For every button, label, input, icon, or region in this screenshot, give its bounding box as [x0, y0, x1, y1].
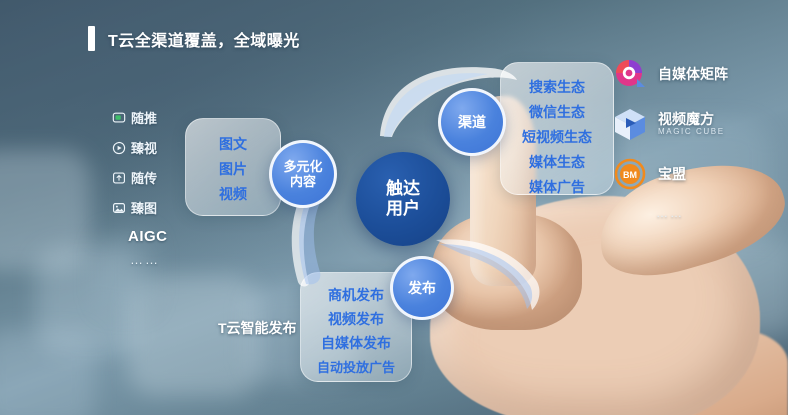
image-icon	[112, 201, 126, 215]
bokeh-shape	[0, 150, 90, 270]
brand-name: 视频魔方 MAGIC CUBE	[658, 111, 725, 136]
channel-bubble[interactable]: 渠道	[438, 88, 506, 156]
brand-name-text: 自媒体矩阵	[658, 66, 728, 82]
page-title: T云全渠道覆盖，全域曝光	[88, 26, 300, 51]
bokeh-shape	[700, 238, 788, 334]
cube-logo	[612, 106, 648, 142]
content-bubble-line2: 内容	[290, 174, 316, 189]
publish-section-label: T云智能发布	[218, 318, 297, 338]
publish-bubble[interactable]: 发布	[390, 256, 454, 320]
center-line1: 触达	[386, 179, 420, 199]
center-line2: 用户	[386, 199, 420, 219]
channel-item[interactable]: 短视频生态	[501, 127, 613, 147]
channel-item[interactable]: 微信生态	[501, 102, 613, 122]
sidebar-more-ellipsis: ……	[130, 252, 192, 267]
sidebar-item-label: 臻视	[131, 138, 157, 157]
play-circle-icon	[112, 141, 126, 155]
brand-list: 自媒体矩阵 视频魔方 MAGIC CUBE	[612, 56, 777, 220]
hand-wrist	[560, 330, 788, 415]
brand-subtitle: MAGIC CUBE	[658, 127, 725, 136]
sidebar-item-zhentu[interactable]: 臻图	[112, 198, 192, 217]
upload-box-icon	[112, 171, 126, 185]
sidebar-item-aigc[interactable]: AIGC	[128, 228, 192, 245]
bm-circle-logo: BM	[612, 156, 648, 192]
bokeh-shape	[0, 330, 94, 415]
brand-item-baomeng[interactable]: BM 宝盟	[612, 156, 777, 192]
source-channel-list: 随推 臻视 随传 臻图 AIGC ……	[112, 108, 192, 267]
publish-item[interactable]: 自媒体发布	[301, 333, 411, 353]
sidebar-item-zhenshi[interactable]: 臻视	[112, 138, 192, 157]
sidebar-item-label: 臻图	[131, 198, 157, 217]
channel-item[interactable]: 媒体生态	[501, 152, 613, 172]
sidebar-item-suitui[interactable]: 随推	[112, 108, 192, 127]
bokeh-shape	[536, 322, 656, 415]
content-item[interactable]: 图片	[186, 159, 280, 179]
bokeh-shape	[604, 268, 716, 372]
content-bubble[interactable]: 多元化 内容	[269, 140, 337, 208]
channel-list-panel: 搜索生态 微信生态 短视频生态 媒体生态 媒体广告	[500, 62, 614, 195]
brand-item-shipin-mofang[interactable]: 视频魔方 MAGIC CUBE	[612, 106, 777, 142]
center-hub[interactable]: 触达 用户	[356, 152, 450, 246]
brand-item-zimeiti-juzhen[interactable]: 自媒体矩阵	[612, 56, 777, 92]
brand-name-text: 宝盟	[658, 166, 686, 182]
brands-more-ellipsis: ……	[656, 206, 777, 220]
infographic-canvas: 随推 臻视 随传 臻图 AIGC ……	[0, 0, 788, 415]
title-accent-bar	[88, 26, 95, 51]
channel-item[interactable]: 搜索生态	[501, 77, 613, 97]
title-text: T云全渠道覆盖，全域曝光	[108, 27, 300, 51]
publish-bubble-label: 发布	[408, 280, 436, 297]
brand-name-text: 视频魔方	[658, 111, 714, 127]
hand-palm	[430, 196, 760, 415]
svg-text:BM: BM	[623, 170, 637, 180]
sidebar-item-label: 随推	[131, 108, 157, 127]
channel-bubble-label: 渠道	[458, 114, 486, 131]
content-bubble-line1: 多元化	[283, 159, 322, 174]
sidebar-item-label: 随传	[131, 168, 157, 187]
content-types-panel: 图文 图片 视频	[185, 118, 281, 216]
chat-bubble-icon	[112, 111, 126, 125]
channel-item[interactable]: 媒体广告	[501, 177, 613, 197]
publish-item[interactable]: 视频发布	[301, 309, 411, 329]
sidebar-item-suichuan[interactable]: 随传	[112, 168, 192, 187]
brand-name: 宝盟	[658, 166, 686, 182]
publish-item[interactable]: 自动投放广告	[301, 357, 411, 376]
matrix-circle-logo	[612, 56, 648, 92]
hand-knuckles	[432, 214, 582, 330]
content-item[interactable]: 图文	[186, 134, 280, 154]
content-item[interactable]: 视频	[186, 184, 280, 204]
brand-name: 自媒体矩阵	[658, 66, 728, 82]
